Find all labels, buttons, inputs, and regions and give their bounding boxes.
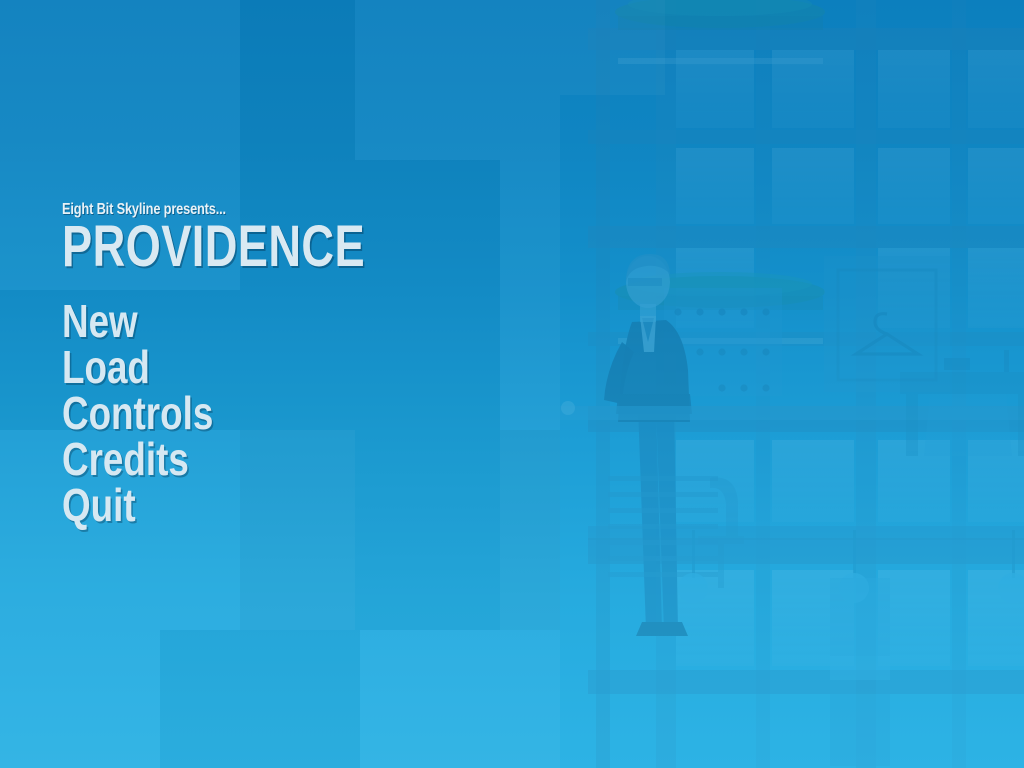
hanging-panels — [830, 578, 890, 766]
menu-item-load[interactable]: Load — [62, 344, 213, 390]
title-screen: Eight Bit Skyline presents... PROVIDENCE… — [0, 0, 1024, 768]
menu-item-credits[interactable]: Credits — [62, 436, 213, 482]
main-menu: New Load Controls Credits Quit — [62, 298, 251, 528]
game-title: PROVIDENCE — [62, 220, 365, 273]
title-block: Eight Bit Skyline presents... PROVIDENCE — [62, 202, 451, 273]
balcony-hedge — [615, 0, 825, 30]
menu-item-new[interactable]: New — [62, 298, 213, 344]
building-illustration — [560, 0, 1024, 768]
menu-item-controls[interactable]: Controls — [62, 390, 213, 436]
menu-item-quit[interactable]: Quit — [62, 482, 213, 528]
wardrobe-hanger — [824, 256, 950, 392]
